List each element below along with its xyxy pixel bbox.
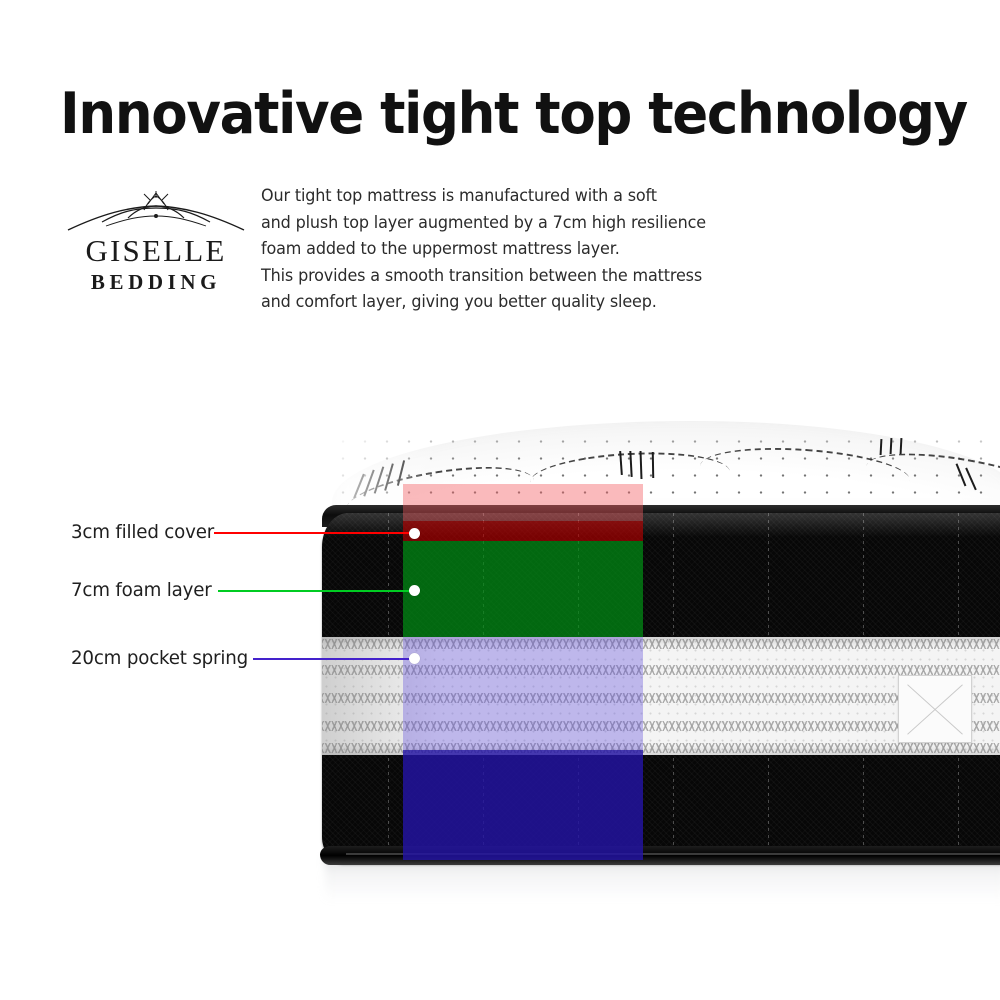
mattress-handle-patch bbox=[898, 675, 972, 743]
overlay-foam-layer bbox=[403, 541, 643, 637]
callout-label-filled-cover: 3cm filled cover bbox=[71, 521, 214, 543]
description-line-4: This provides a smooth transition betwee… bbox=[261, 263, 717, 290]
callout-dot-filled-cover bbox=[409, 528, 420, 539]
description-line-1: Our tight top mattress is manufactured w… bbox=[261, 183, 717, 210]
description-line-5: and comfort layer, giving you better qua… bbox=[261, 289, 717, 316]
product-info-graphic: Innovative tight top technology GISELLE … bbox=[0, 0, 1000, 1000]
overlay-filled-cover-dark bbox=[403, 521, 643, 541]
callout-label-pocket-spring: 20cm pocket spring bbox=[71, 647, 248, 669]
giselle-crest-icon bbox=[62, 190, 250, 238]
overlay-pocket-spring-light bbox=[403, 637, 643, 750]
mattress-side-view-photo bbox=[300, 405, 1000, 905]
page-title: Innovative tight top technology bbox=[60, 83, 906, 145]
callout-line-filled-cover bbox=[214, 532, 418, 534]
brand-name: GISELLE bbox=[62, 234, 250, 268]
callout-label-foam-layer: 7cm foam layer bbox=[71, 579, 212, 601]
callout-line-pocket-spring bbox=[253, 658, 418, 660]
brand-logo: GISELLE BEDDING bbox=[62, 190, 250, 295]
overlay-filled-cover-light bbox=[403, 484, 643, 521]
callout-dot-pocket-spring bbox=[409, 653, 420, 664]
brand-subtitle: BEDDING bbox=[62, 270, 250, 294]
callout-line-foam-layer bbox=[218, 590, 418, 592]
description-line-2: and plush top layer augmented by a 7cm h… bbox=[261, 210, 717, 237]
product-description: Our tight top mattress is manufactured w… bbox=[261, 183, 717, 316]
description-line-3: foam added to the uppermost mattress lay… bbox=[261, 236, 717, 263]
callout-dot-foam-layer bbox=[409, 585, 420, 596]
overlay-pocket-spring-dark bbox=[403, 750, 643, 860]
